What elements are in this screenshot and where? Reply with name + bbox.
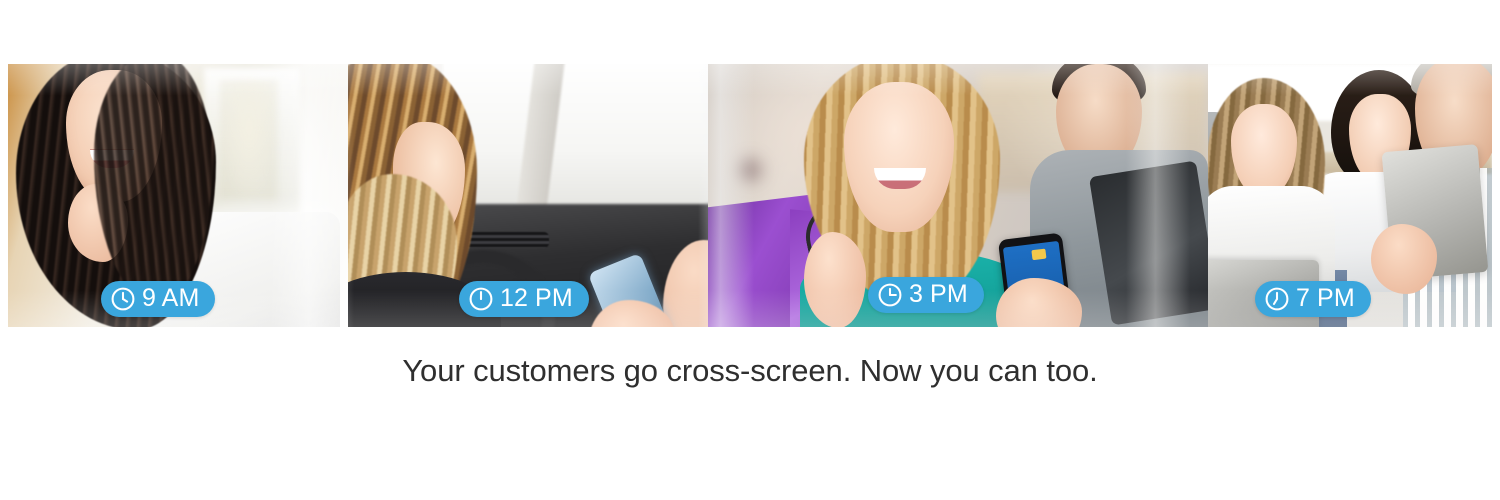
banner-tagline: Your customers go cross-screen. Now you …	[0, 352, 1500, 389]
time-badge-morning: 9 AM	[101, 281, 215, 317]
shopper-face	[844, 82, 954, 232]
clock-icon	[877, 282, 903, 308]
clock-icon	[110, 286, 136, 312]
windshield	[443, 64, 743, 208]
clock-icon	[468, 286, 494, 312]
time-badge-evening: 7 PM	[1255, 281, 1371, 317]
shopper-hand-on-strap	[804, 232, 866, 327]
time-badge-afternoon-label: 3 PM	[905, 282, 968, 307]
cross-screen-banner: 9 AM 12 PM 3 PM 7 PM Your customers go c…	[0, 0, 1500, 500]
plant-blur	[220, 80, 278, 200]
time-badge-midday: 12 PM	[459, 281, 589, 317]
time-badge-evening-label: 7 PM	[1292, 286, 1355, 311]
hand-holding-tablet	[1371, 224, 1437, 294]
time-badge-morning-label: 9 AM	[138, 286, 199, 311]
time-badge-midday-label: 12 PM	[496, 286, 573, 311]
time-badge-afternoon: 3 PM	[868, 277, 984, 313]
girl-face	[1231, 104, 1297, 196]
air-vent	[463, 232, 549, 248]
clock-icon	[1264, 286, 1290, 312]
